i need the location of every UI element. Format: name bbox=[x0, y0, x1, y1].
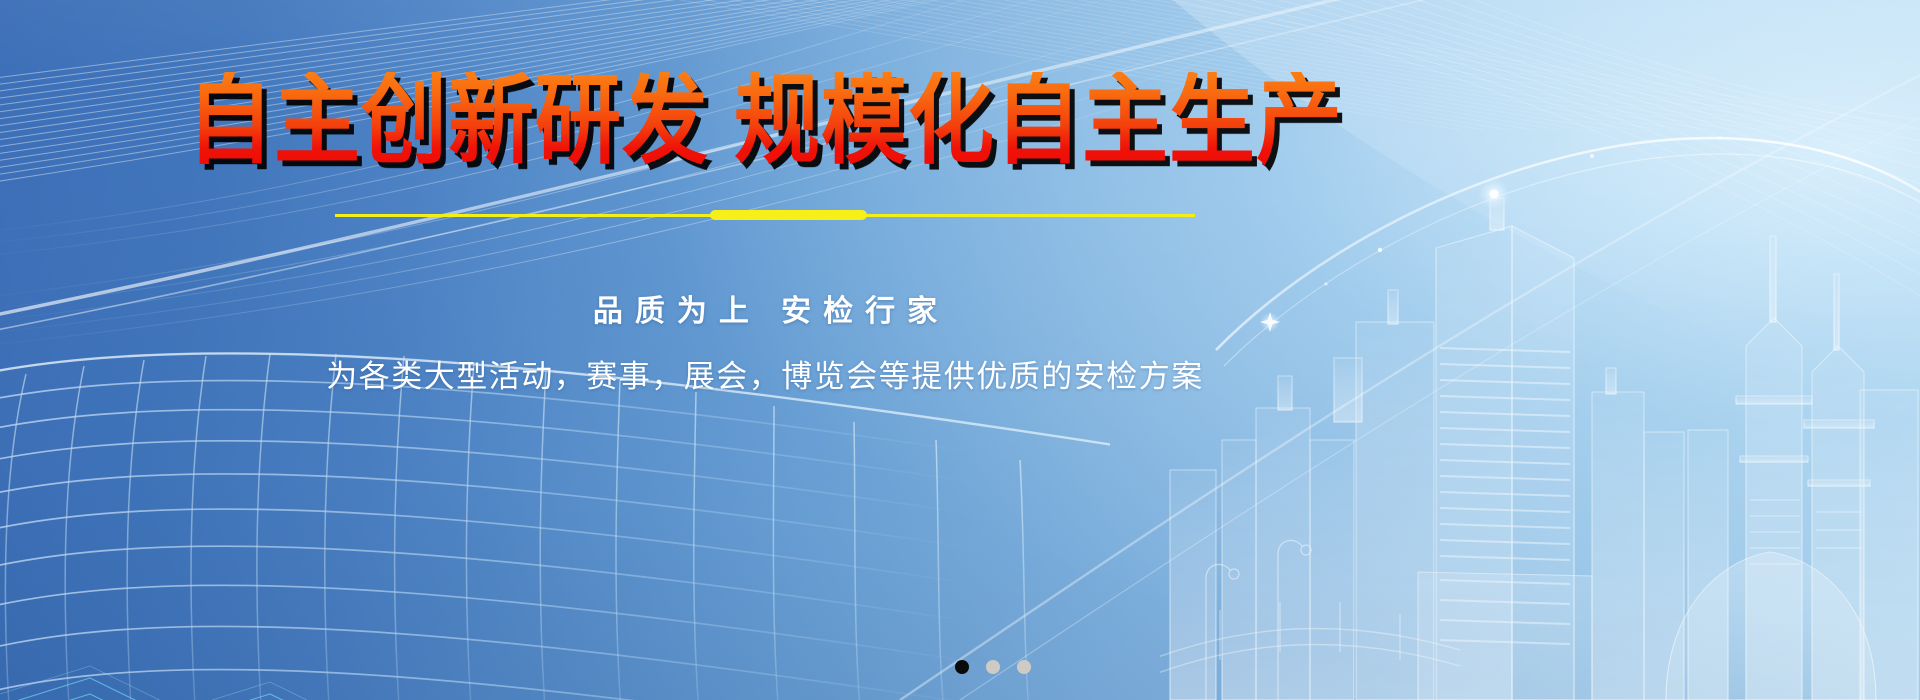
divider-node bbox=[710, 210, 867, 220]
carousel-dot-2[interactable] bbox=[986, 660, 1000, 674]
banner-content: 自主创新研发 规模化自主生产 品质为上 安检行家 为各类大型活动，赛事，展会，博… bbox=[0, 0, 1530, 700]
carousel-dot-3[interactable] bbox=[1017, 660, 1031, 674]
slogan-secondary: 为各类大型活动，赛事，展会，博览会等提供优质的安检方案 bbox=[326, 351, 1204, 396]
yellow-divider bbox=[335, 206, 1195, 224]
carousel-dots[interactable] bbox=[955, 660, 1031, 674]
carousel-dot-1[interactable] bbox=[955, 660, 969, 674]
banner-headline: 自主创新研发 规模化自主生产 bbox=[187, 72, 1343, 170]
hero-banner: 自主创新研发 规模化自主生产 品质为上 安检行家 为各类大型活动，赛事，展会，博… bbox=[0, 0, 1920, 700]
slogan-primary: 品质为上 安检行家 bbox=[581, 286, 949, 330]
